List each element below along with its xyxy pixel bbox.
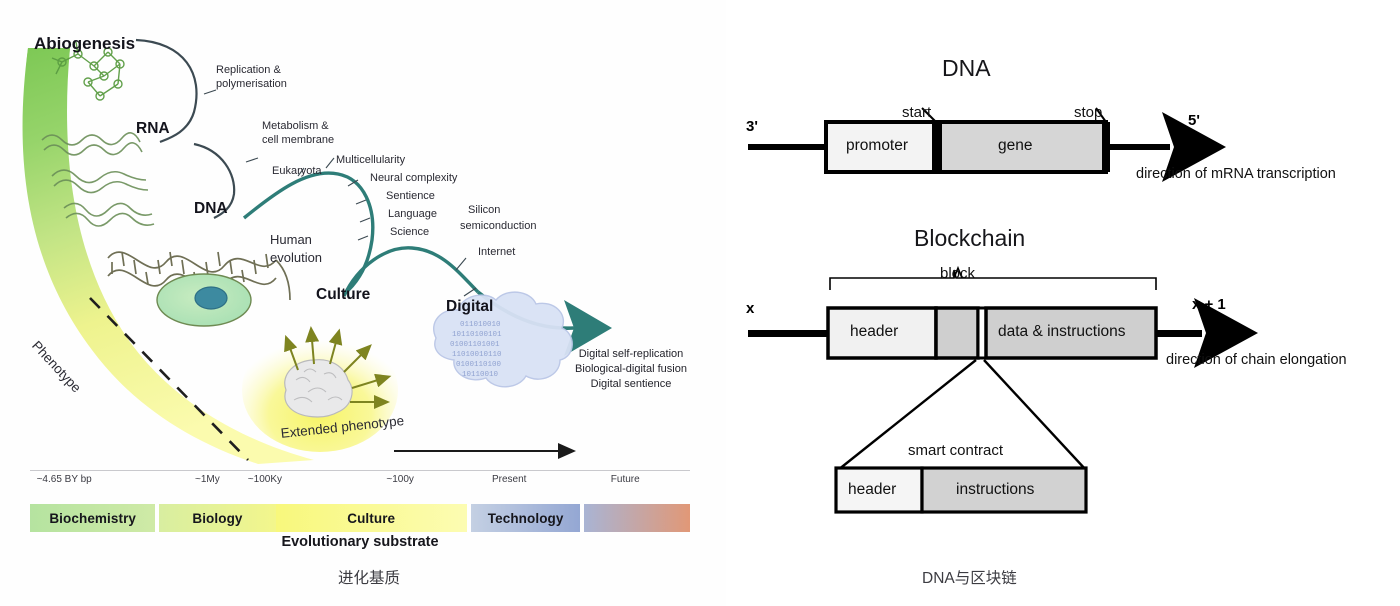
brain-illustration [285, 360, 352, 417]
human-evolution-line1: Human [270, 232, 312, 247]
smart-contract-header-label: header [848, 481, 896, 499]
timeline-tick-2: ~100Ky [248, 474, 282, 485]
transition-metabolism-line1: Metabolism & [262, 120, 329, 132]
svg-text:10110100101: 10110100101 [452, 331, 502, 339]
timeline-tick-4: Present [492, 474, 526, 485]
substrate-segment-biology: Biology [159, 504, 275, 532]
timeline-tick-5: Future [611, 474, 640, 485]
label-leaders [204, 90, 476, 296]
transition-silicon-line2: semiconduction [460, 220, 536, 232]
left-panel-evolutionary-substrate: 011010010 10110100101 01001101001 110100… [0, 0, 726, 606]
svg-text:11010010110: 11010010110 [452, 351, 502, 359]
blockchain-header-label: header [850, 323, 898, 341]
dna-three-prime: 3' [746, 118, 758, 135]
dna-five-prime: 5' [1188, 112, 1200, 129]
transition-eukaryota: Eukaryota [272, 165, 322, 177]
stage-label-culture: Culture [316, 286, 370, 304]
transition-science: Science [390, 226, 429, 238]
dna-title: DNA [942, 55, 991, 82]
dna-stop-label: stop [1074, 104, 1102, 121]
transition-internet: Internet [478, 246, 515, 258]
evolution-graphics: 011010010 10110100101 01001101001 110100… [8, 8, 718, 548]
timeline-tick-0: ~4.65 BY bp [37, 474, 92, 485]
left-panel-caption: 进化基质 [338, 566, 400, 588]
blockchain-x-label: x [746, 300, 754, 317]
right-panel-dna-blockchain: DNA 3' 5' start stop promoter gene direc… [726, 0, 1400, 606]
evolutionary-timeline: ~4.65 BY bp ~1My ~100Ky ~100y Present Fu… [30, 470, 690, 554]
transition-silicon-line1: Silicon [468, 204, 500, 216]
blockchain-direction-label: direction of chain elongation [1166, 352, 1347, 368]
transition-metabolism-line2: cell membrane [262, 134, 334, 146]
substrate-segment-biochemistry: Biochemistry [30, 504, 155, 532]
stage-label-abiogenesis: Abiogenesis [34, 34, 135, 54]
transition-multicellularity: Multicellularity [336, 154, 405, 166]
smart-contract-label: smart contract [908, 442, 1003, 459]
substrate-segment-future: Future [584, 504, 690, 532]
dna-blockchain-graphics [726, 0, 1400, 606]
dna-direction-label: direction of mRNA transcription [1136, 166, 1336, 182]
blockchain-title: Blockchain [914, 225, 1025, 252]
transition-replication-line2: polymerisation [216, 78, 287, 90]
evolution-diagram: 011010010 10110100101 01001101001 110100… [8, 8, 718, 548]
substrate-axis-label: Evolutionary substrate [30, 534, 690, 550]
svg-text:0100110100: 0100110100 [456, 361, 502, 369]
human-evolution-line2: evolution [270, 250, 322, 265]
future-outcome-3: Digital sentience [556, 378, 706, 392]
timeline-tick-1: ~1My [195, 474, 220, 485]
dna-gene-label: gene [998, 137, 1032, 155]
dna-promoter-label: promoter [846, 137, 908, 155]
transition-neural-complexity: Neural complexity [370, 172, 457, 184]
figure-root: 011010010 10110100101 01001101001 110100… [0, 0, 1400, 606]
dna-start-label: start [902, 104, 931, 121]
transition-replication-line1: Replication & [216, 64, 281, 76]
svg-text:011010010: 011010010 [460, 321, 501, 329]
substrate-segment-technology: Technology [471, 504, 581, 532]
cell-illustration [157, 274, 251, 326]
timeline-ticks: ~4.65 BY bp ~1My ~100Ky ~100y Present Fu… [30, 474, 690, 490]
blockchain-schematic [748, 268, 1258, 512]
future-outcome-1: Digital self-replication [556, 348, 706, 362]
transition-sentience: Sentience [386, 190, 435, 202]
blockchain-data-instructions-label: data & instructions [998, 323, 1126, 341]
smart-contract-instructions-label: instructions [956, 481, 1034, 499]
transition-language: Language [388, 208, 437, 220]
substrate-segment-culture: Culture [276, 504, 467, 532]
svg-text:10110010: 10110010 [462, 371, 499, 379]
future-outcome-2: Biological-digital fusion [556, 363, 706, 377]
timeline-rule [30, 470, 690, 471]
blockchain-block-label: block [940, 265, 975, 282]
stage-label-rna: RNA [136, 120, 170, 138]
right-panel-caption: DNA与区块链 [922, 566, 1017, 588]
timeline-tick-3: ~100y [386, 474, 414, 485]
stage-label-dna: DNA [194, 200, 228, 218]
blockchain-x-plus-1-label: x + 1 [1192, 296, 1226, 313]
stage-label-digital: Digital [446, 298, 493, 316]
substrate-bar: Biochemistry Biology Culture Technology … [30, 504, 690, 532]
svg-text:01001101001: 01001101001 [450, 341, 500, 349]
